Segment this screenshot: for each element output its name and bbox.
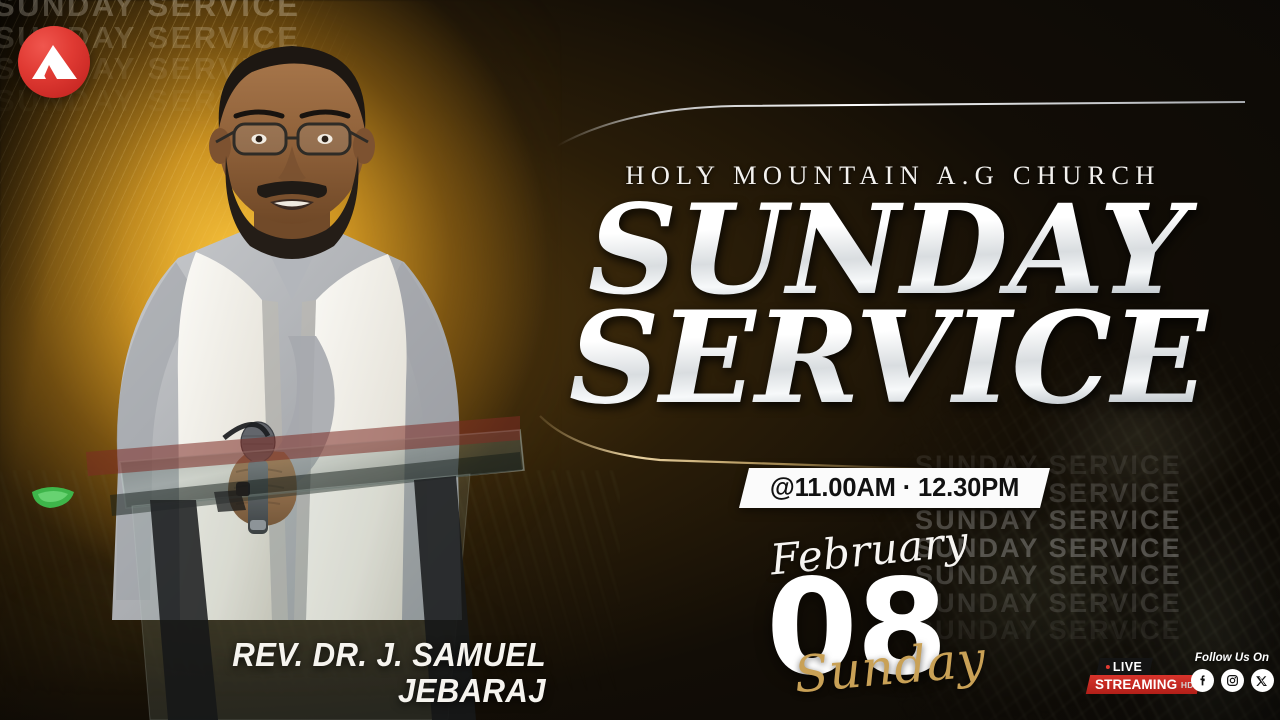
facebook-icon[interactable]: [1191, 669, 1214, 692]
instagram-icon[interactable]: [1221, 669, 1244, 692]
streaming-label: STREAMING: [1095, 677, 1177, 692]
headline-block: HOLY MOUNTAIN A.G CHURCH SUNDAY SERVICE: [548, 160, 1228, 417]
speaker-name-line2: JEBARAJ: [206, 674, 546, 710]
follow-us-label: Follow Us On: [1186, 652, 1278, 664]
sunday-service-flyer: SUNDAY SERVICE SUNDAY SERVICE SUNDAY SER…: [0, 0, 1280, 720]
x-twitter-icon[interactable]: [1251, 669, 1274, 692]
speaker-name: REV. DR. J. SAMUEL JEBARAJ: [206, 638, 546, 710]
streaming-row: STREAMING HD: [1086, 675, 1201, 694]
live-row: LIVE: [1096, 658, 1153, 675]
service-date-block: February 08 Sunday: [744, 526, 1044, 706]
live-dot-icon: [1106, 665, 1110, 669]
live-label: LIVE: [1113, 660, 1142, 674]
service-time-badge: @11.00AM · 12.30PM: [739, 468, 1050, 508]
follow-us-block: Follow Us On: [1186, 652, 1278, 692]
mountain-logo-icon: [27, 39, 81, 85]
live-streaming-badge[interactable]: LIVE STREAMING HD: [1088, 658, 1186, 696]
title-line-service: SERVICE: [548, 301, 1228, 417]
preacher-photo: [0, 0, 560, 720]
social-icons: [1186, 669, 1278, 692]
service-time-text: @11.00AM · 12.30PM: [770, 474, 1019, 503]
church-logo[interactable]: [18, 26, 90, 98]
speaker-name-line1: REV. DR. J. SAMUEL: [206, 638, 546, 674]
